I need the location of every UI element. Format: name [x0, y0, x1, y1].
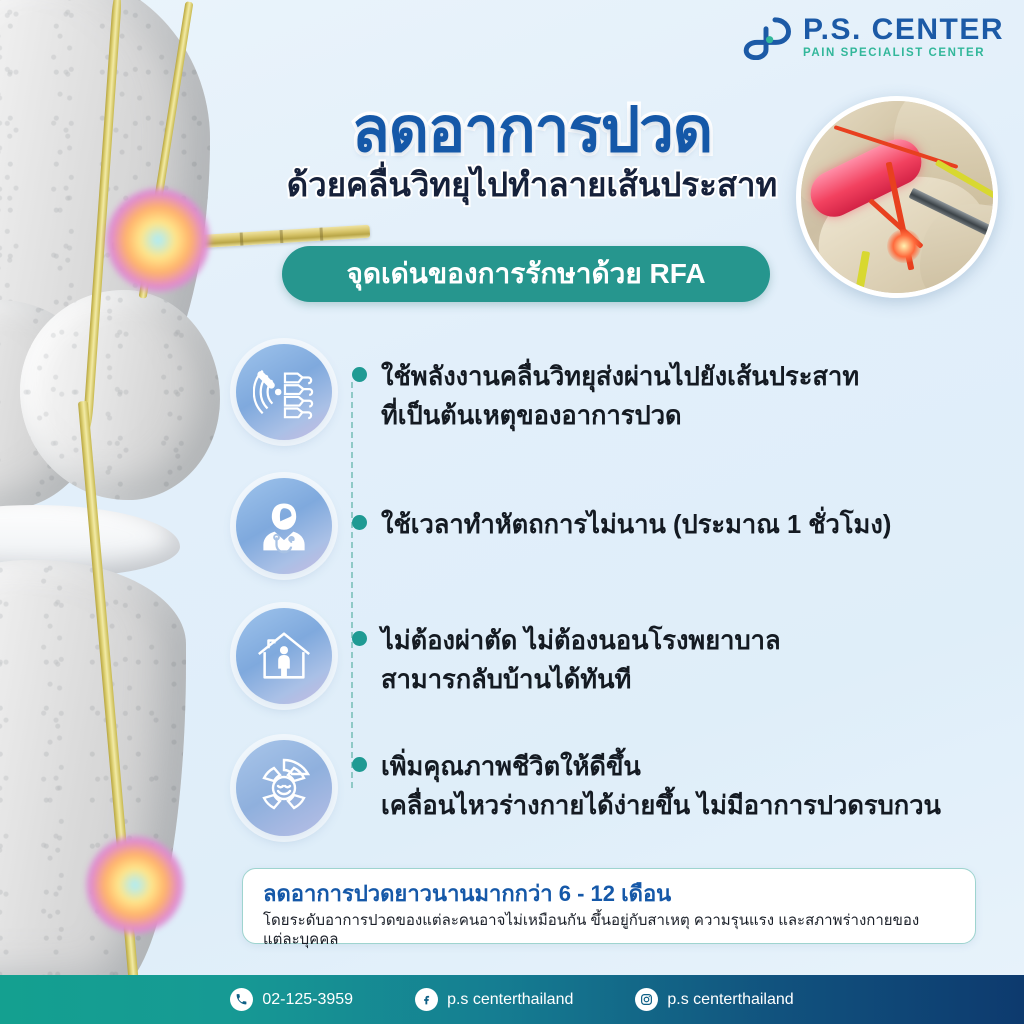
feature-text-line1: ไม่ต้องผ่าตัด ไม่ต้องนอนโรงพยาบาล [381, 622, 781, 661]
logo-subtitle: PAIN SPECIALIST CENTER [803, 48, 1004, 60]
treatment-glow-point [106, 188, 210, 292]
instagram-handle: p.s centerthailand [667, 991, 793, 1009]
feature-text-line1: ใช้พลังงานคลื่นวิทยุส่งผ่านไปยังเส้นประส… [381, 358, 859, 397]
feature-text-line2: สามารกลับบ้านได้ทันที [381, 661, 781, 700]
bullet-dot [352, 757, 367, 772]
page-subtitle: ด้วยคลื่นวิทยุไปทำลายเส้นประสาท [272, 165, 792, 205]
feature-text-line1: ใช้เวลาทำหัตถการไม่นาน (ประมาณ 1 ชั่วโมง… [381, 506, 891, 545]
feature-item: เพิ่มคุณภาพชีวิตให้ดีขึ้น เคลื่อนไหวร่าง… [236, 740, 976, 836]
callout-subtitle: โดยระดับอาการปวดของแต่ละคนอาจไม่เหมือนกั… [263, 911, 955, 950]
feature-item: ไม่ต้องผ่าตัด ไม่ต้องนอนโรงพยาบาล สามารก… [236, 608, 976, 704]
probe-tip-glow [887, 229, 921, 263]
feature-text-line1: เพิ่มคุณภาพชีวิตให้ดีขึ้น [381, 748, 941, 787]
contact-footer: 02-125-3959 p.s centerthailand p.s cente… [0, 975, 1024, 1024]
headline-block: ลดอาการปวด ด้วยคลื่นวิทยุไปทำลายเส้นประส… [272, 98, 792, 205]
bullet-connector-line [351, 382, 353, 788]
phone-icon [230, 988, 253, 1011]
instagram-icon [635, 988, 658, 1011]
callout-title: ลดอาการปวดยาวนานมากกว่า 6 - 12 เดือน [263, 880, 955, 908]
section-badge: จุดเด่นของการรักษาด้วย RFA [282, 246, 770, 302]
infographic-canvas: P.S. CENTER PAIN SPECIALIST CENTER ลดอาก… [0, 0, 1024, 1024]
smiley-wellness-icon [236, 740, 332, 836]
feature-text-line2: ที่เป็นต้นเหตุของอาการปวด [381, 397, 859, 436]
page-title: ลดอาการปวด [272, 98, 792, 163]
bullet-dot [352, 515, 367, 530]
infinity-knot-logo-icon [739, 14, 793, 60]
bullet-dot [352, 631, 367, 646]
brand-logo: P.S. CENTER PAIN SPECIALIST CENTER [739, 14, 1004, 60]
footer-phone[interactable]: 02-125-3959 [230, 988, 353, 1011]
house-person-icon [236, 608, 332, 704]
feature-item: ใช้พลังงานคลื่นวิทยุส่งผ่านไปยังเส้นประส… [236, 344, 976, 440]
footer-facebook[interactable]: p.s centerthailand [415, 988, 573, 1011]
spine-radiofrequency-icon [236, 344, 332, 440]
phone-number: 02-125-3959 [262, 991, 353, 1009]
treatment-glow-point [86, 836, 184, 934]
duration-callout-box: ลดอาการปวดยาวนานมากกว่า 6 - 12 เดือน โดย… [242, 868, 976, 944]
female-doctor-icon [236, 478, 332, 574]
spine-rfa-procedure-photo [796, 96, 998, 298]
facebook-icon [415, 988, 438, 1011]
feature-item: ใช้เวลาทำหัตถการไม่นาน (ประมาณ 1 ชั่วโมง… [236, 478, 976, 574]
footer-instagram[interactable]: p.s centerthailand [635, 988, 793, 1011]
feature-text-line2: เคลื่อนไหวร่างกายได้ง่ายขึ้น ไม่มีอาการป… [381, 787, 941, 826]
logo-title: P.S. CENTER [803, 15, 1004, 45]
bullet-dot [352, 367, 367, 382]
facebook-handle: p.s centerthailand [447, 991, 573, 1009]
